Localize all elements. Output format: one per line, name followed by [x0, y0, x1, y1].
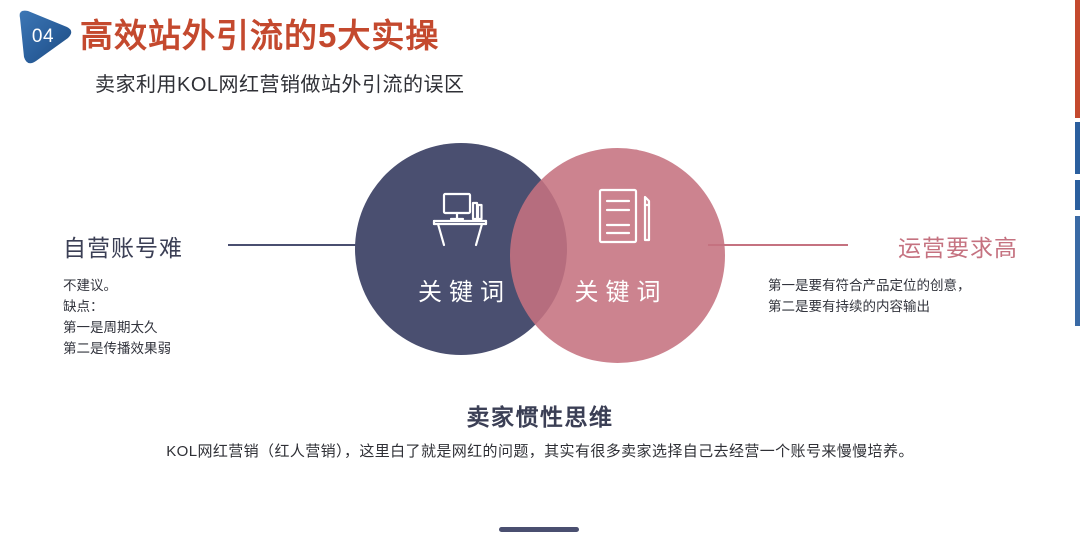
edge-accent-bar-blue-1	[1075, 122, 1080, 174]
left-detail-list: 不建议。 缺点： 第一是周期太久 第二是传播效果弱	[63, 275, 263, 359]
edge-accent-bar-orange	[1075, 0, 1080, 118]
edge-accent-bar-blue-2	[1075, 180, 1080, 210]
bottom-heading: 卖家惯性思维	[0, 398, 1080, 432]
venn-circle-left	[355, 143, 567, 355]
left-detail-line: 第二是传播效果弱	[63, 338, 263, 359]
slide-canvas: 04 高效站外引流的5大实操 卖家利用KOL网红营销做站外引流的误区	[0, 0, 1080, 554]
left-detail-line: 不建议。	[63, 275, 263, 296]
page-subtitle: 卖家利用KOL网红营销做站外引流的误区	[95, 68, 465, 97]
bottom-accent-bar	[499, 527, 579, 532]
venn-label-right: 关键词	[510, 272, 725, 307]
venn-circle-right	[510, 148, 725, 363]
document-pen-icon	[594, 185, 658, 249]
left-text-block: 自营账号难 不建议。 缺点： 第一是周期太久 第二是传播效果弱	[63, 229, 263, 359]
edge-accent-bar-blue-3	[1075, 216, 1080, 326]
page-title: 高效站外引流的5大实操	[80, 9, 439, 57]
section-number-badge	[14, 8, 76, 66]
right-heading: 运营要求高	[768, 229, 1028, 263]
bottom-paragraph: KOL网红营销（红人营销），这里白了就是网红的问题，其实有很多卖家选择自己去经营…	[0, 440, 1080, 461]
left-detail-line: 缺点：	[63, 296, 263, 317]
badge-shape-icon	[14, 8, 76, 66]
right-detail-line: 第二是要有持续的内容输出	[768, 296, 1028, 317]
right-detail-line: 第一是要有符合产品定位的创意，	[768, 275, 1028, 296]
right-text-block: 运营要求高 第一是要有符合产品定位的创意， 第二是要有持续的内容输出	[768, 229, 1028, 317]
left-detail-line: 第一是周期太久	[63, 317, 263, 338]
left-heading: 自营账号难	[63, 229, 263, 263]
desk-monitor-icon	[428, 188, 492, 252]
venn-label-left: 关键词	[355, 272, 567, 307]
right-detail-list: 第一是要有符合产品定位的创意， 第二是要有持续的内容输出	[768, 275, 1028, 317]
